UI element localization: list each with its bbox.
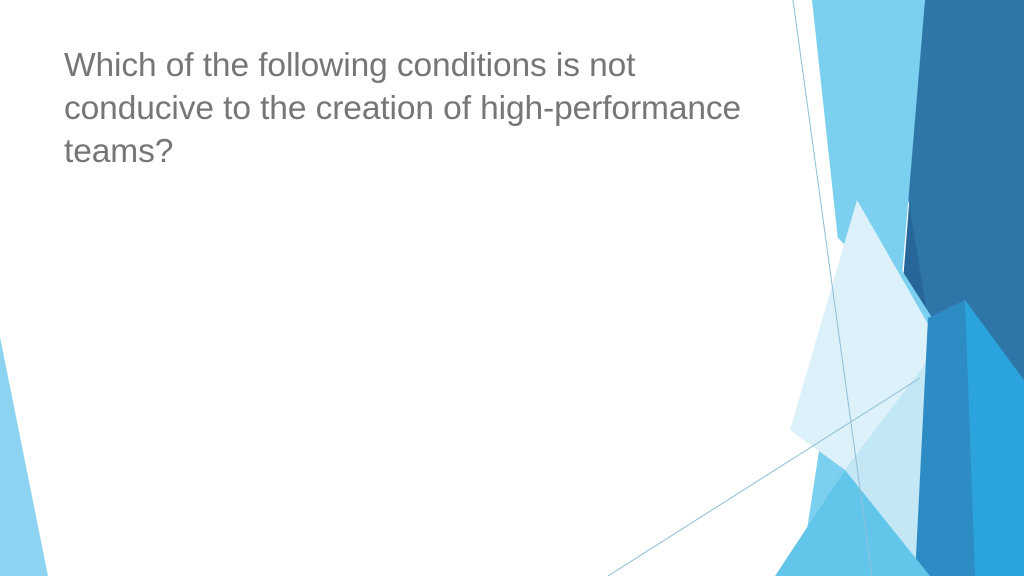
decor-shape-sky-lower xyxy=(775,470,930,576)
decor-shape-steel-wedge xyxy=(915,300,975,576)
title-placeholder[interactable]: Which of the following conditions is not… xyxy=(64,44,776,173)
decor-shape-cyan-facet xyxy=(930,330,1024,576)
decor-shape-sky-band xyxy=(793,0,925,300)
decor-shape-light-facet xyxy=(800,345,945,576)
decor-shape-pale-sliver xyxy=(790,0,838,250)
body-placeholder[interactable] xyxy=(64,196,764,526)
decor-shape-sky-band-two xyxy=(800,200,940,576)
decor-shape-medium-blue xyxy=(945,300,1024,576)
decor-shape-corner-wedge xyxy=(0,337,48,576)
slide-canvas: Which of the following conditions is not… xyxy=(0,0,1024,576)
decor-shape-pale-triangle xyxy=(790,200,940,470)
decor-shape-deep-blue xyxy=(900,0,1024,430)
decor-hairline-vertical xyxy=(793,0,872,576)
page-title: Which of the following conditions is not… xyxy=(64,44,776,173)
decor-shape-dark-blue xyxy=(880,0,1024,576)
